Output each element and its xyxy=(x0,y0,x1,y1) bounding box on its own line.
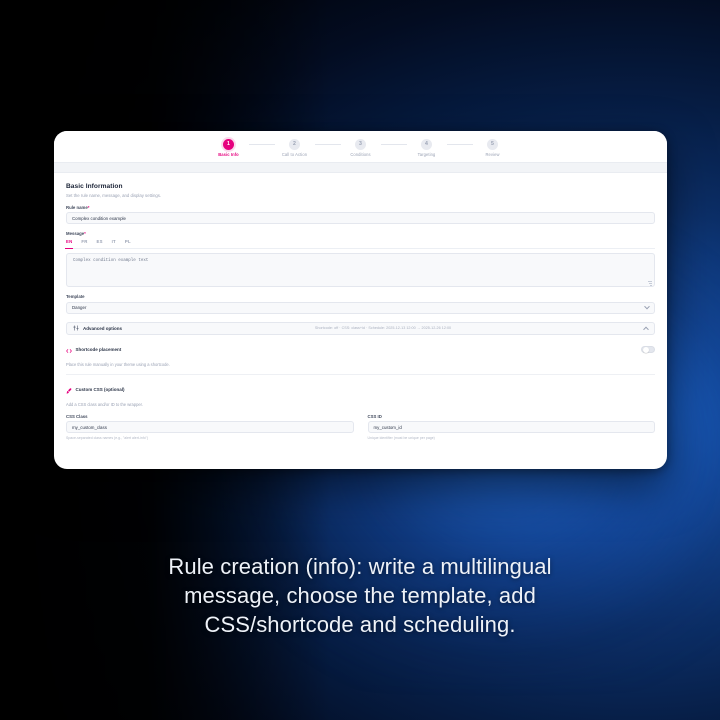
css-id-input[interactable]: my_custom_id xyxy=(368,421,656,433)
page-title: Basic Information xyxy=(66,183,655,190)
step-label: Call to Action xyxy=(282,152,307,157)
tab-es[interactable]: ES xyxy=(97,239,103,246)
shortcode-placement-switch[interactable] xyxy=(641,346,655,354)
css-class-help: Space-separated class names (e.g., "aler… xyxy=(66,436,354,440)
step-label: Basic Info xyxy=(218,152,239,157)
step-label: Targeting xyxy=(418,152,436,157)
step-connector xyxy=(315,144,341,145)
custom-css-label: Custom CSS (optional) xyxy=(76,387,125,392)
page-subtitle: Set the rule name, message, and display … xyxy=(66,193,655,198)
css-class-field: CSS Class my_custom_class Space-separate… xyxy=(66,414,354,440)
css-id-label: CSS ID xyxy=(368,414,656,419)
message-label-text: Message xyxy=(66,231,84,236)
step-connector xyxy=(381,144,407,145)
step-conditions[interactable]: 3 Conditions xyxy=(341,139,381,158)
css-class-input[interactable]: my_custom_class xyxy=(66,421,354,433)
step-number: 5 xyxy=(487,139,498,150)
shortcode-placement-description: Place this rule manually in your theme u… xyxy=(66,362,655,367)
template-field: Template Danger xyxy=(66,294,655,314)
step-review[interactable]: 5 Review xyxy=(473,139,513,158)
step-targeting[interactable]: 4 Targeting xyxy=(407,139,447,158)
switch-knob xyxy=(643,347,649,353)
tab-it[interactable]: IT xyxy=(112,239,116,246)
advanced-options-panel: Shortcode placement Place this rule manu… xyxy=(66,335,655,440)
tab-pl[interactable]: PL xyxy=(125,239,131,246)
step-label: Conditions xyxy=(350,152,370,157)
message-textarea[interactable]: Complex condition example text xyxy=(66,253,655,287)
panel-divider xyxy=(66,374,655,375)
advanced-options-toggle[interactable]: Advanced options Shortcode: off · CSS: c… xyxy=(66,322,655,335)
resize-handle-icon[interactable] xyxy=(648,281,652,285)
advanced-options-label: Advanced options xyxy=(83,326,122,331)
message-label: Message* xyxy=(66,231,655,236)
header-divider xyxy=(54,162,667,173)
shortcode-placement-header: Shortcode placement xyxy=(66,341,655,359)
app-window: 1 Basic Info 2 Call to Action 3 Conditio… xyxy=(54,131,667,469)
step-label: Review xyxy=(485,152,499,157)
step-number: 1 xyxy=(223,139,234,150)
sliders-icon xyxy=(73,325,79,331)
step-basic-info[interactable]: 1 Basic Info xyxy=(209,139,249,158)
paintbrush-icon xyxy=(66,381,72,399)
rule-name-field: Rule name* Complex condition example xyxy=(66,205,655,225)
chevron-down-icon xyxy=(644,303,650,309)
rule-name-label: Rule name* xyxy=(66,205,655,210)
custom-css-description: Add a CSS class and/or ID to the wrapper… xyxy=(66,402,655,407)
css-id-help: Unique identifier (must be unique per pa… xyxy=(368,436,656,440)
rule-name-label-text: Rule name xyxy=(66,205,88,210)
required-marker: * xyxy=(84,231,86,236)
template-select[interactable]: Danger xyxy=(66,302,655,314)
step-number: 2 xyxy=(289,139,300,150)
required-marker: * xyxy=(88,205,90,210)
step-number: 3 xyxy=(355,139,366,150)
step-connector xyxy=(249,144,275,145)
chevron-up-icon xyxy=(643,327,649,333)
step-connector xyxy=(447,144,473,145)
tab-fr[interactable]: FR xyxy=(81,239,87,246)
language-tabs: EN FR ES IT PL xyxy=(66,239,655,250)
form-body: Basic Information Set the rule name, mes… xyxy=(54,173,667,440)
shortcode-placement-label: Shortcode placement xyxy=(76,347,122,352)
template-selected-value: Danger xyxy=(72,305,86,310)
css-id-field: CSS ID my_custom_id Unique identifier (m… xyxy=(368,414,656,440)
wizard-stepper: 1 Basic Info 2 Call to Action 3 Conditio… xyxy=(54,131,667,162)
template-label: Template xyxy=(66,294,655,299)
rule-name-input[interactable]: Complex condition example xyxy=(66,212,655,224)
message-textarea-value: Complex condition example text xyxy=(73,259,148,263)
message-field: Message* EN FR ES IT PL Complex conditio… xyxy=(66,231,655,287)
step-number: 4 xyxy=(421,139,432,150)
custom-css-fields: CSS Class my_custom_class Space-separate… xyxy=(66,414,655,440)
tab-en[interactable]: EN xyxy=(66,239,72,246)
css-class-label: CSS Class xyxy=(66,414,354,419)
custom-css-header: Custom CSS (optional) xyxy=(66,381,655,399)
step-call-to-action[interactable]: 2 Call to Action xyxy=(275,139,315,158)
advanced-options-summary: Shortcode: off · CSS: class+id · Schedul… xyxy=(122,326,644,330)
slide-caption: Rule creation (info): write a multilingu… xyxy=(0,552,720,639)
code-icon xyxy=(66,341,72,359)
